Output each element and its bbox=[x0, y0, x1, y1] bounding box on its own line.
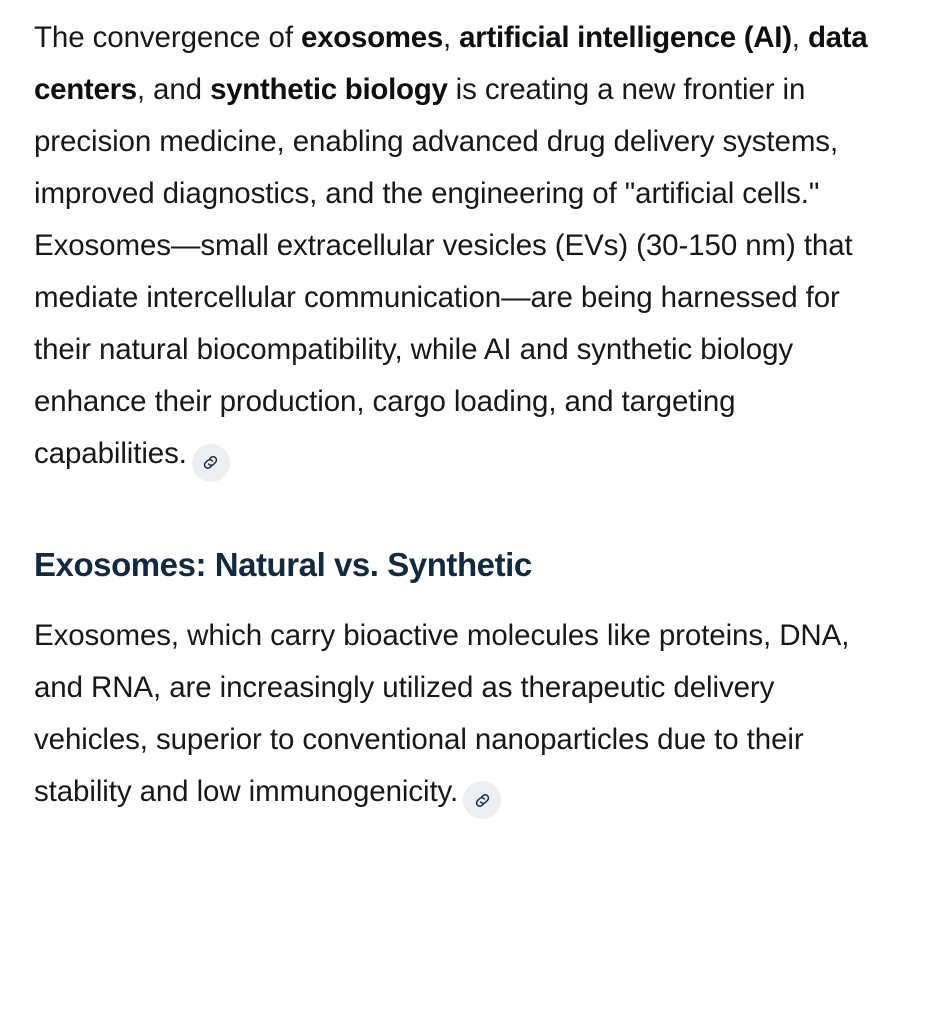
bold-term-artificial-intelligence: artificial intelligence (AI) bbox=[459, 21, 792, 54]
paragraph-intro-text-6: capabilities. bbox=[34, 437, 187, 470]
citation-link-badge-1[interactable] bbox=[192, 444, 230, 482]
paragraph-exosomes-tail: immunogenicity. bbox=[241, 775, 502, 808]
paragraph-intro-text-3: , bbox=[792, 21, 808, 54]
bold-term-exosomes: exosomes bbox=[301, 21, 443, 54]
paragraph-intro-tail: capabilities. bbox=[34, 437, 230, 470]
paragraph-intro: The convergence of exosomes, artificial … bbox=[34, 0, 894, 482]
article-content: The convergence of exosomes, artificial … bbox=[0, 0, 934, 1023]
bold-term-synthetic-biology: synthetic biology bbox=[210, 73, 447, 106]
paragraph-intro-text-1: The convergence of bbox=[34, 21, 301, 54]
paragraph-intro-text-5: is creating a new frontier in precision … bbox=[34, 73, 853, 418]
section-heading: Exosomes: Natural vs. Synthetic bbox=[34, 482, 894, 610]
citation-link-badge-2[interactable] bbox=[463, 781, 501, 819]
link-icon bbox=[473, 791, 492, 810]
paragraph-intro-text-4: , and bbox=[137, 73, 210, 106]
link-icon bbox=[201, 453, 220, 472]
paragraph-exosomes-overview: Exosomes, which carry bioactive molecule… bbox=[34, 610, 894, 820]
paragraph-intro-text-2: , bbox=[443, 21, 459, 54]
paragraph-exosomes-text-2: immunogenicity. bbox=[241, 775, 459, 808]
